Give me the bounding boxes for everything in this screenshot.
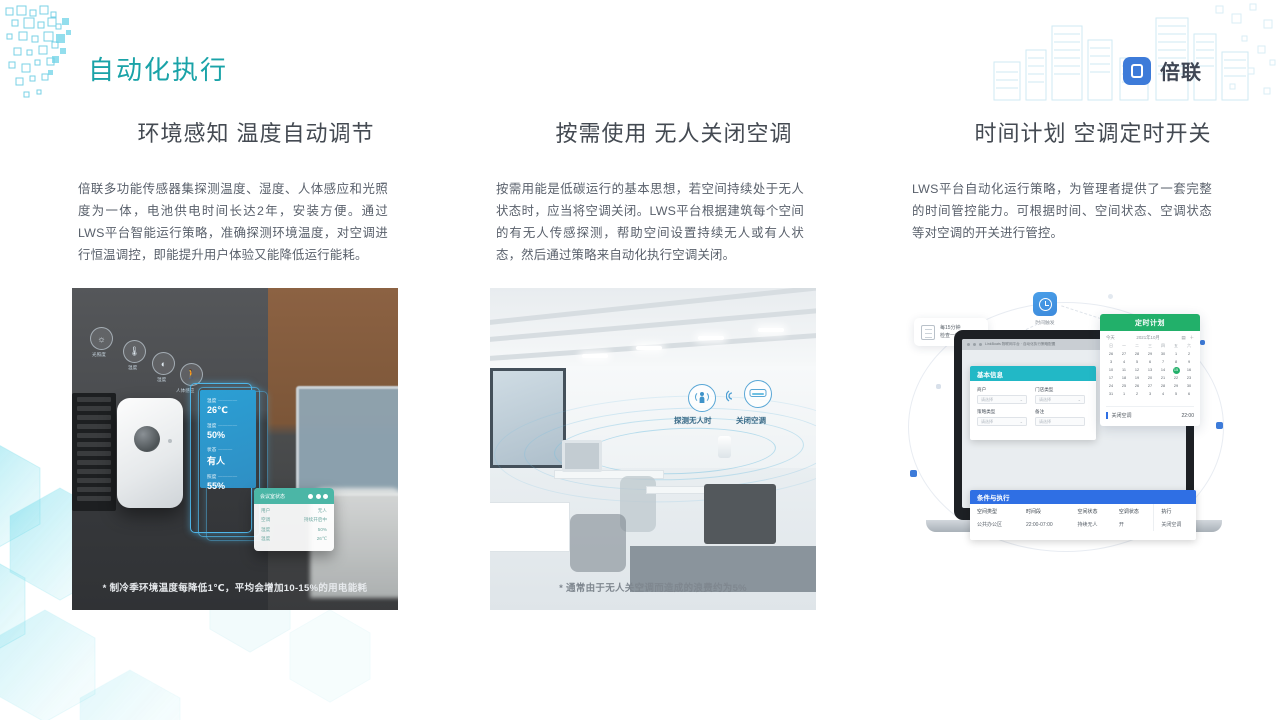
open-office-photo: 探测无人时 关闭空调 * 通常由于无人关空调而造成的浪费约为5% xyxy=(490,288,816,610)
sensor-led xyxy=(168,439,172,443)
background-monitor xyxy=(296,386,398,496)
sensor-lens xyxy=(134,426,160,452)
humidity-icon: ◐ xyxy=(152,352,175,375)
humidity-icon-label: 湿度 xyxy=(157,377,166,383)
readout-label: 照度 xyxy=(207,474,217,479)
feature-columns: 环境感知 温度自动调节 倍联多功能传感器集探测温度、湿度、人体感应和光照度为一体… xyxy=(0,112,1280,610)
calendar-weekday: 三 xyxy=(1144,343,1156,350)
column-heading: 时间计划 空调定时开关 xyxy=(906,112,1280,156)
calendar-day[interactable]: 22 xyxy=(1170,375,1182,382)
document-scan-icon xyxy=(921,325,935,340)
field-label: 商户 xyxy=(977,387,1027,393)
column-header: 时间段 xyxy=(1019,504,1071,518)
schedule-entry[interactable]: 关闭空调 22:00 xyxy=(1106,406,1194,419)
column-heading: 环境感知 温度自动调节 xyxy=(66,112,446,156)
calendar-day[interactable]: 25 xyxy=(1118,383,1130,390)
calendar-day[interactable]: 7 xyxy=(1157,359,1169,366)
field-input[interactable]: 请选择 xyxy=(1035,417,1085,426)
calendar-day[interactable]: 5 xyxy=(1170,391,1182,398)
status-row-label: 湿度 xyxy=(261,527,270,533)
calendar-day[interactable]: 13 xyxy=(1144,367,1156,374)
calendar-day[interactable]: 1 xyxy=(1170,351,1182,358)
calendar-day[interactable]: 3 xyxy=(1144,391,1156,398)
rounded-square-logo-icon xyxy=(1123,57,1151,85)
browser-title: LinkBoats 物联网平台 · 自动化执行策略配置 xyxy=(985,342,1055,347)
column-header: 空调状态 xyxy=(1112,504,1154,518)
calendar-day[interactable]: 8 xyxy=(1170,359,1182,366)
status-row-value: 26℃ xyxy=(317,536,327,542)
room-status-card: 会议室状态 用户无人 空调持续开启中 湿度50% 温度26℃ xyxy=(254,488,334,551)
decorative-dot xyxy=(1200,340,1205,345)
calendar-day[interactable]: 9 xyxy=(1183,359,1195,366)
ceiling-lamp xyxy=(698,336,724,340)
ceiling-lamp xyxy=(758,328,784,332)
readout-label: 状态 xyxy=(207,447,217,452)
calendar-day[interactable]: 12 xyxy=(1131,367,1143,374)
calendar-weekday: 四 xyxy=(1157,343,1169,350)
calendar-day[interactable]: 23 xyxy=(1183,375,1195,382)
sensor-on-wall-photo: ☼ 光照度 🌡 温度 ◐ 湿度 🚶 人体感应 温度 ————26℃ 湿度 ———… xyxy=(72,288,398,610)
calendar-day[interactable]: 29 xyxy=(1170,383,1182,390)
calendar-day[interactable]: 26 xyxy=(1105,351,1117,358)
readout-value: 55% xyxy=(207,481,249,491)
column-header: 执行 xyxy=(1154,504,1196,518)
status-row-label: 温度 xyxy=(261,536,270,542)
calendar-day[interactable]: 26 xyxy=(1131,383,1143,390)
page-title: 自动化执行 xyxy=(88,50,228,87)
readout-value: 50% xyxy=(207,430,249,440)
column-heading: 按需使用 无人关闭空调 xyxy=(484,112,864,156)
calendar-day[interactable]: 5 xyxy=(1131,359,1143,366)
calendar-weekday: 二 xyxy=(1131,343,1143,350)
field-placeholder: 请选择 xyxy=(1039,397,1051,403)
form-field-store-type[interactable]: 门店类型 请选择⌄ xyxy=(1035,387,1085,404)
status-row-label: 用户 xyxy=(261,508,270,514)
calendar-weekday: 一 xyxy=(1118,343,1130,350)
sensor-readout-panel: 温度 ————26℃ 湿度 ————50% 状态 ———有人 照度 ————55… xyxy=(200,390,256,488)
calendar-day[interactable]: 21 xyxy=(1157,375,1169,382)
time-trigger-badge: 时间触发 xyxy=(1026,292,1064,326)
chevron-down-icon: ⌄ xyxy=(1020,419,1023,424)
calendar-day[interactable]: 1 xyxy=(1118,391,1130,398)
status-row-label: 空调 xyxy=(261,517,270,523)
table-header-row: 空间类型 时间段 空间状态 空调状态 执行 xyxy=(970,504,1196,518)
illuminance-icon-label: 光照度 xyxy=(92,352,106,358)
readout-label: 湿度 xyxy=(207,423,217,428)
field-label: 备注 xyxy=(1035,409,1085,415)
calendar-day[interactable]: 17 xyxy=(1105,375,1117,382)
calendar-day[interactable]: 18 xyxy=(1118,375,1130,382)
cell-space-status: 持续无人 xyxy=(1071,518,1112,532)
feature-column-ondemand: 按需使用 无人关闭空调 按需用能是低碳运行的基本思想，若空间持续处于无人状态时，… xyxy=(490,112,864,610)
ac-badge-label: 关闭空调 xyxy=(736,415,766,426)
occupancy-sensor-icon xyxy=(688,384,716,412)
calendar-day[interactable]: 15 xyxy=(1173,367,1180,374)
decorative-dot xyxy=(910,470,917,477)
field-placeholder: 请选择 xyxy=(1039,419,1051,425)
calendar-weekday: 五 xyxy=(1170,343,1182,350)
field-placeholder: 请选择 xyxy=(981,397,993,403)
form-field-strategy-type[interactable]: 策略类型 请选择⌄ xyxy=(977,409,1027,426)
figure-caption: * 通常由于无人关空调而造成的浪费约为5% xyxy=(490,580,816,594)
ceiling-lamp xyxy=(582,354,608,358)
readout-value: 26℃ xyxy=(207,405,249,416)
feature-column-schedule: 时间计划 空调定时开关 LWS平台自动化运行策略，为管理者提供了一套完整的时间管… xyxy=(906,112,1280,610)
calendar-day[interactable]: 4 xyxy=(1157,391,1169,398)
calendar-day[interactable]: 11 xyxy=(1118,367,1130,374)
form-field-remark[interactable]: 备注 请选择 xyxy=(1035,409,1085,426)
feature-column-environment: 环境感知 温度自动调节 倍联多功能传感器集探测温度、湿度、人体感应和光照度为一体… xyxy=(72,112,446,610)
list-icon[interactable]: ▤ xyxy=(1181,335,1185,341)
basic-info-form-card: 基本信息 商户 请选择⌄ 门店类型 请选择⌄ 策略类型 请选择⌄ xyxy=(970,366,1096,440)
calendar-day[interactable]: 20 xyxy=(1144,375,1156,382)
wall-vent xyxy=(72,393,116,511)
illuminance-icon: ☼ xyxy=(90,327,113,350)
calendar-day[interactable]: 28 xyxy=(1131,351,1143,358)
schedule-title: 定时计划 xyxy=(1100,314,1200,331)
decorative-dot xyxy=(1108,294,1113,299)
field-placeholder: 请选择 xyxy=(981,419,993,425)
calendar-grid[interactable]: 日一二三四五六262728293012345678910111213141516… xyxy=(1100,343,1200,398)
calendar-day[interactable]: 24 xyxy=(1105,383,1117,390)
alarm-clock-icon xyxy=(1033,292,1057,316)
column-body-text: LWS平台自动化运行策略，为管理者提供了一套完整的时间管控能力。可根据时间、空间… xyxy=(912,178,1212,244)
field-input[interactable]: 请选择⌄ xyxy=(977,417,1027,426)
column-body-text: 倍联多功能传感器集探测温度、湿度、人体感应和光照度为一体，电池供电时间长达2年，… xyxy=(78,178,388,266)
page-header: 自动化执行 倍联 xyxy=(0,0,1280,110)
calendar-weekday: 六 xyxy=(1183,343,1195,350)
card-menu-dots-icon xyxy=(308,494,328,499)
time-trigger-label: 时间触发 xyxy=(1026,319,1064,326)
chevron-down-icon: ⌄ xyxy=(1020,397,1023,402)
calendar-weekday: 日 xyxy=(1105,343,1117,350)
figure-caption: * 制冷季环境温度每降低1℃，平均会增加10-15%的用电能耗 xyxy=(72,580,398,594)
brand-logo: 倍联 xyxy=(1123,56,1202,85)
ceiling-lamp xyxy=(636,346,662,350)
calendar-day[interactable]: 30 xyxy=(1183,383,1195,390)
basic-info-title: 基本信息 xyxy=(970,366,1096,381)
calendar-day[interactable]: 3 xyxy=(1105,359,1117,366)
calendar-day[interactable]: 4 xyxy=(1118,359,1130,366)
brand-name: 倍联 xyxy=(1160,56,1202,85)
chevron-down-icon: ⌄ xyxy=(1078,397,1081,402)
temperature-icon-label: 温度 xyxy=(128,365,137,371)
schedule-calendar-card: 定时计划 今天 2021年10月 ▤ ＋ 日一二三四五六262728293012… xyxy=(1100,314,1200,426)
calendar-day[interactable]: 6 xyxy=(1144,359,1156,366)
entry-label: 关闭空调 xyxy=(1112,412,1132,419)
entry-marker xyxy=(1106,412,1108,419)
decorative-dot xyxy=(936,384,941,389)
air-conditioner-icon xyxy=(744,380,772,408)
ceiling-occupancy-sensor xyxy=(718,436,731,458)
column-header: 空间类型 xyxy=(970,504,1019,518)
conditions-and-actions-card: 条件与执行 空间类型 时间段 空间状态 空调状态 执行 公共办公区 22:00-… xyxy=(970,490,1196,540)
calendar-day[interactable]: 27 xyxy=(1144,383,1156,390)
calendar-day[interactable]: 31 xyxy=(1105,391,1117,398)
readout-label: 温度 xyxy=(207,398,217,403)
calendar-day[interactable]: 30 xyxy=(1157,351,1169,358)
calendar-day[interactable]: 27 xyxy=(1118,351,1130,358)
calendar-day[interactable]: 28 xyxy=(1157,383,1169,390)
status-row-value: 持续开启中 xyxy=(304,517,327,523)
cell-ac-status: 开 xyxy=(1112,518,1154,532)
decorative-dot xyxy=(1216,422,1223,429)
plus-icon[interactable]: ＋ xyxy=(1190,335,1194,341)
cell-space-type: 公共办公区 xyxy=(970,518,1019,532)
calendar-day[interactable]: 16 xyxy=(1183,367,1195,374)
calendar-day[interactable]: 19 xyxy=(1131,375,1143,382)
laptop-schedule-mockup: 每15分钟 检查一次 时间触发 LinkBoats 物联网平台 · 自动化执行策… xyxy=(900,274,1240,574)
column-body-text: 按需用能是低碳运行的基本思想，若空间持续处于无人状态时，应当将空调关闭。LWS平… xyxy=(496,178,804,266)
field-label: 门店类型 xyxy=(1035,387,1085,393)
calendar-day[interactable]: 29 xyxy=(1144,351,1156,358)
status-row-value: 50% xyxy=(318,527,327,533)
conditions-title: 条件与执行 xyxy=(970,490,1196,504)
temperature-icon: 🌡 xyxy=(123,340,146,363)
wireless-signal-icon xyxy=(726,389,738,408)
room-status-title: 会议室状态 xyxy=(260,493,285,500)
column-header: 空间状态 xyxy=(1071,504,1112,518)
status-row-value: 无人 xyxy=(318,508,327,514)
month-label[interactable]: 2021年10月 xyxy=(1136,335,1159,341)
multifunction-sensor-device xyxy=(117,398,183,508)
occupancy-badge-label: 探测无人时 xyxy=(674,415,712,426)
form-field-merchant[interactable]: 商户 请选择⌄ xyxy=(977,387,1027,404)
field-input[interactable]: 请选择⌄ xyxy=(1035,395,1085,404)
calendar-day[interactable]: 2 xyxy=(1131,391,1143,398)
readout-value: 有人 xyxy=(207,454,249,467)
calendar-day[interactable]: 10 xyxy=(1105,367,1117,374)
today-button[interactable]: 今天 xyxy=(1106,335,1115,341)
table-row[interactable]: 公共办公区 22:00-07:00 持续无人 开 关闭空调 xyxy=(970,518,1196,532)
cell-action: 关闭空调 xyxy=(1154,518,1196,532)
field-input[interactable]: 请选择⌄ xyxy=(977,395,1027,404)
entry-time: 22:00 xyxy=(1181,413,1194,419)
calendar-day[interactable]: 14 xyxy=(1157,367,1169,374)
calendar-day[interactable]: 2 xyxy=(1183,351,1195,358)
cell-time-range: 22:00-07:00 xyxy=(1019,518,1071,532)
calendar-day[interactable]: 6 xyxy=(1183,391,1195,398)
field-label: 策略类型 xyxy=(977,409,1027,415)
